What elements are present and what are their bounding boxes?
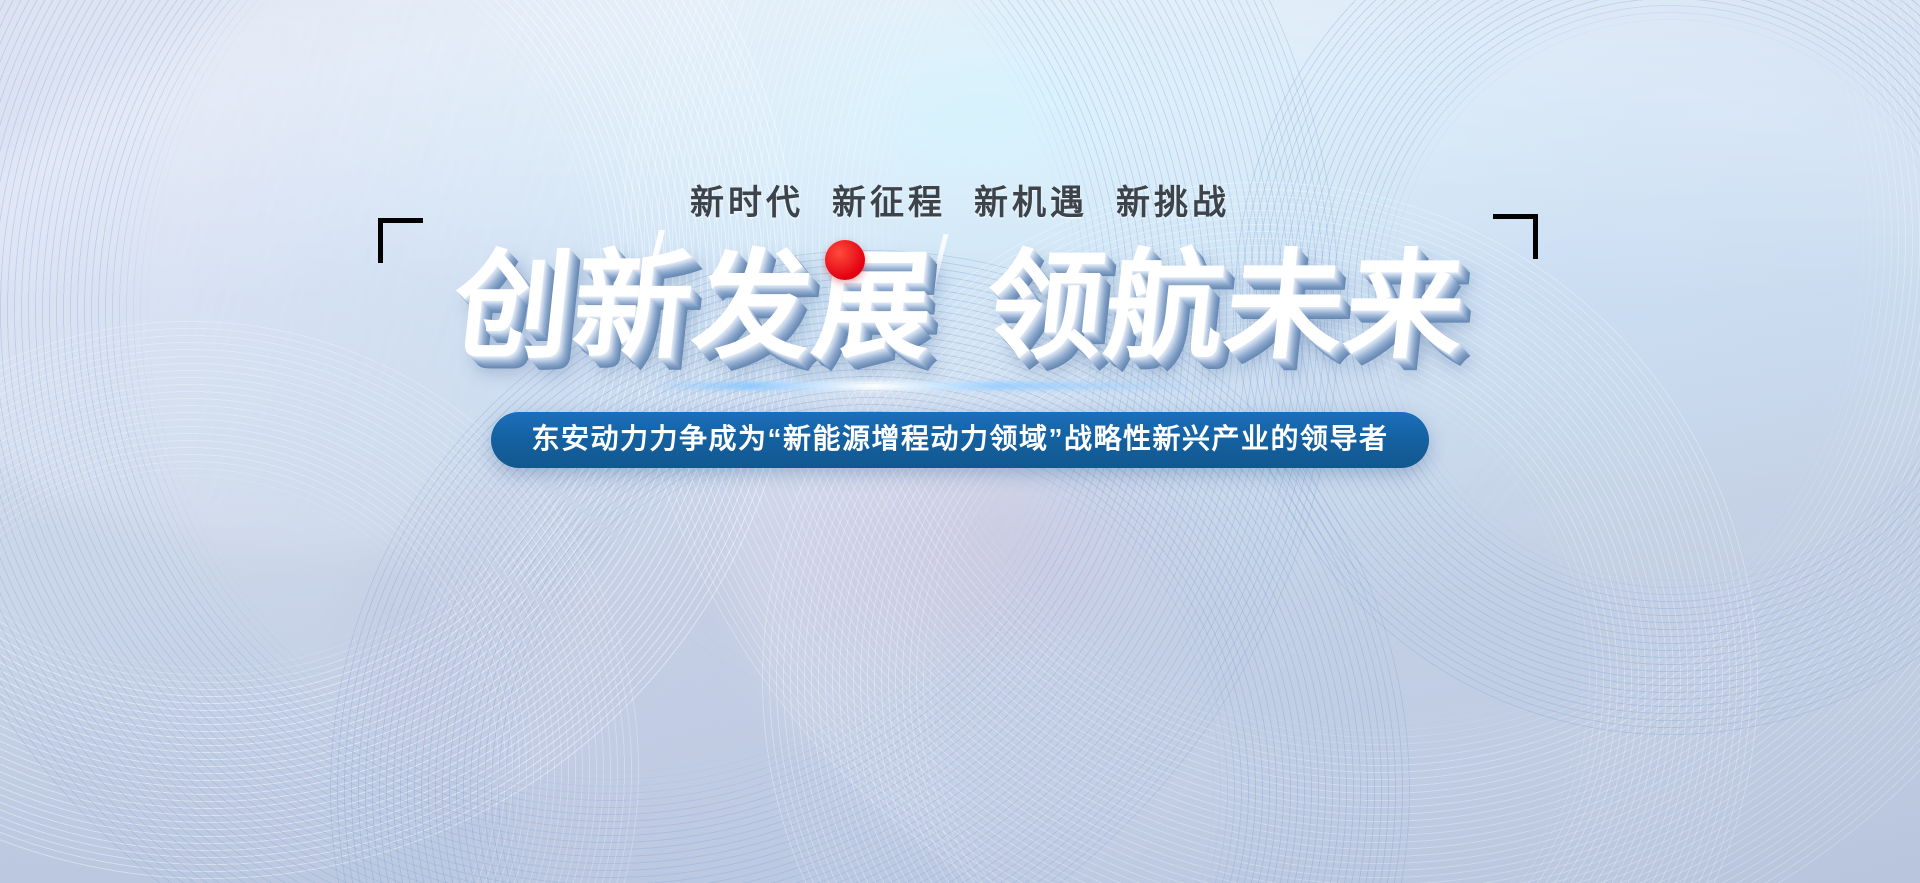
- kicker-segment-3: 新机遇: [974, 184, 1088, 222]
- kicker-segment-4: 新挑战: [1116, 184, 1230, 222]
- headline-part-right: 领航未来: [979, 237, 1474, 375]
- bracket-corner-top-right-icon: [1493, 214, 1538, 259]
- headline-block: 创新发展领航未来: [410, 236, 1510, 376]
- banner-content: 新时代新征程新机遇新挑战 创新发展领航未来 东安动力力争成为“新能源增程动力领域…: [0, 0, 1920, 883]
- kicker-segment-1: 新时代: [690, 184, 804, 222]
- page-title: 创新发展领航未来: [448, 247, 1472, 365]
- banner-stage: 新时代新征程新机遇新挑战 创新发展领航未来 东安动力力争成为“新能源增程动力领域…: [0, 0, 1920, 883]
- light-streak-icon: [650, 382, 1210, 390]
- status-badge: 东安动力力争成为“新能源增程动力领域”战略性新兴产业的领导者: [491, 412, 1428, 468]
- bracket-corner-top-left-icon: [378, 218, 423, 263]
- kicker-tagline: 新时代新征程新机遇新挑战: [676, 186, 1244, 220]
- headline-part-left: 创新发展: [447, 237, 942, 375]
- red-dot-accent-icon: [825, 240, 865, 280]
- kicker-segment-2: 新征程: [832, 184, 946, 222]
